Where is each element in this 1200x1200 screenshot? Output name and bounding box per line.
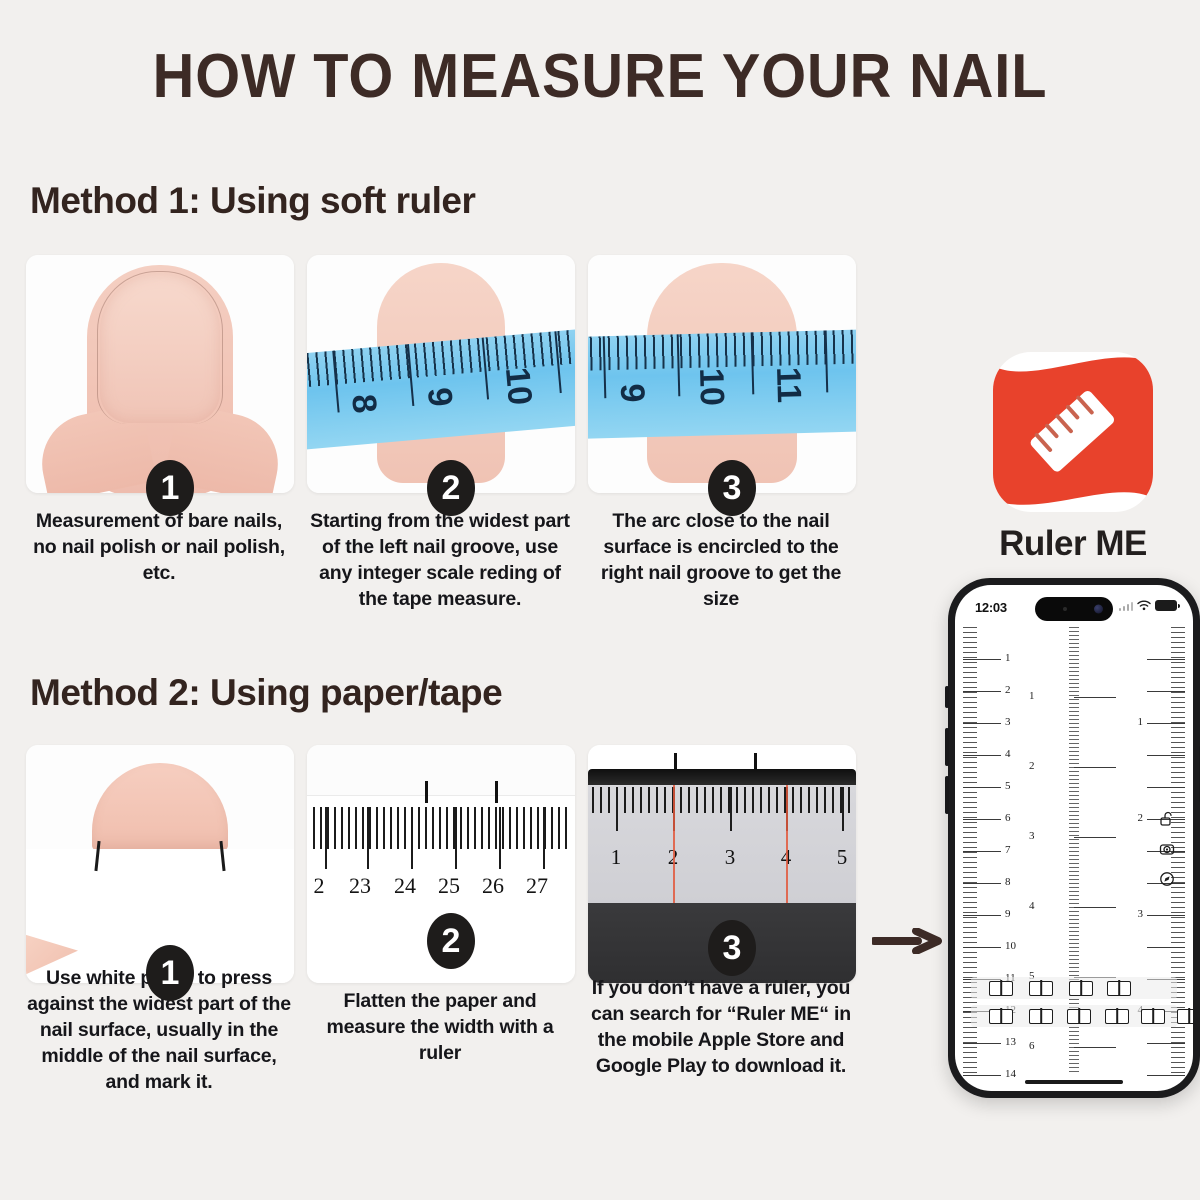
- ruler-tick-label: 3: [1005, 716, 1011, 728]
- cellular-signal-icon: [1119, 601, 1134, 611]
- status-bar-time: 12:03: [975, 600, 1007, 615]
- arrow-right-icon: [872, 928, 942, 954]
- ruler-tick-label: 1: [1005, 652, 1011, 664]
- step-badge-3: 3: [708, 920, 756, 976]
- method-1-step-2-caption: Starting from the widest part of the lef…: [307, 508, 573, 612]
- ruler-number: 24: [394, 873, 416, 899]
- phone-mockup: 12:03 1 2 3 4 5: [948, 578, 1200, 1098]
- ruler-number: 25: [438, 873, 460, 899]
- ruler-tick-label: 6: [1005, 812, 1011, 824]
- compass-icon[interactable]: [1159, 871, 1175, 887]
- ruler-tick-label: 2: [1005, 684, 1011, 696]
- ruler-number: 26: [482, 873, 504, 899]
- status-bar-indicators: [1119, 600, 1178, 611]
- method-2-step-2-caption: Flatten the paper and measure the width …: [307, 988, 573, 1066]
- method-1-step-1-photo: [26, 255, 294, 493]
- phone-silent-switch[interactable]: [945, 686, 949, 708]
- ruler-number: 1: [611, 845, 622, 870]
- pen-mark-right: [495, 781, 498, 803]
- ruler-widget-row[interactable]: [971, 1005, 1177, 1027]
- unlock-icon[interactable]: [1159, 811, 1175, 827]
- ruler-tick-label: 10: [1005, 940, 1016, 952]
- tape-measure-right-photo: 9 10 11: [588, 255, 856, 493]
- ruler-widget-chip[interactable]: [1177, 1009, 1193, 1024]
- method-1-step-2-photo: 8 9 10: [307, 255, 575, 493]
- nail-outline: [97, 271, 223, 424]
- ruler-tool-buttons: [1159, 811, 1175, 887]
- camera-icon[interactable]: [1159, 841, 1175, 857]
- paper-edge: [307, 745, 575, 796]
- ruler-widget-chip[interactable]: [1107, 981, 1131, 996]
- ruler-widget-chip[interactable]: [1069, 981, 1093, 996]
- ruler-widget-chip[interactable]: [1141, 1009, 1165, 1024]
- ruler-tick-label: 13: [1005, 1036, 1016, 1048]
- page-title: HOW TO MEASURE YOUR NAIL: [42, 42, 1158, 112]
- ruler-widget-chip[interactable]: [989, 1009, 1013, 1024]
- blue-tape-measure: 9 10 11: [588, 329, 856, 439]
- step-badge-3: 3: [708, 460, 756, 516]
- battery-icon: [1155, 600, 1177, 611]
- ruler-tick-label: 9: [1005, 908, 1011, 920]
- ruler-me-app-icon[interactable]: [993, 352, 1153, 512]
- method-1-step-3-photo: 9 10 11: [588, 255, 856, 493]
- tape-number: 9: [612, 383, 651, 403]
- ruler-widget-chip[interactable]: [1029, 1009, 1053, 1024]
- bare-nail-photo: [26, 255, 294, 493]
- ruler-tick-label: 4: [1029, 900, 1035, 912]
- home-indicator[interactable]: [1025, 1080, 1123, 1084]
- ruler-number: 3: [725, 845, 736, 870]
- tape-number: 8: [343, 393, 384, 415]
- phone-screen[interactable]: 12:03 1 2 3 4 5: [955, 585, 1193, 1091]
- app-brand-name: Ruler ME: [940, 524, 1200, 564]
- tape-number: 9: [419, 386, 460, 408]
- phone-bezel: [588, 769, 856, 785]
- ruler-tick-label: 2: [1138, 812, 1144, 824]
- ruler-widget-row[interactable]: [971, 977, 1177, 999]
- ruler-ticks: [313, 807, 569, 849]
- step-badge-2: 2: [427, 913, 475, 969]
- ruler-tick-label: 1: [1138, 716, 1144, 728]
- ruler-tick-label: 14: [1005, 1068, 1016, 1080]
- tape-ticks: [588, 329, 856, 371]
- ruler-widget-chip[interactable]: [1105, 1009, 1129, 1024]
- ruler-number: 5: [837, 845, 848, 870]
- tape-number: 10: [497, 366, 539, 407]
- step-badge-1: 1: [146, 460, 194, 516]
- dynamic-island: [1035, 597, 1113, 621]
- ruler-tick-label: 1: [1029, 690, 1035, 702]
- ruler-ticks: [592, 787, 852, 813]
- ruler-widget-chip[interactable]: [1029, 981, 1053, 996]
- ruler-number: 23: [349, 873, 371, 899]
- method-2-step-3-caption: If you don’t have a ruler, you can searc…: [588, 975, 854, 1079]
- ruler-widget-chip[interactable]: [989, 981, 1013, 996]
- method-1-step-3-caption: The arc close to the nail surface is enc…: [588, 508, 854, 612]
- ruler-tick-label: 2: [1029, 760, 1035, 772]
- ruler-tick-label: 4: [1005, 748, 1011, 760]
- tape-measure-left-photo: 8 9 10: [307, 255, 575, 493]
- front-camera-icon: [1094, 605, 1103, 614]
- ruler-number: 27: [526, 873, 548, 899]
- blue-tape-measure: 8 9 10: [307, 329, 575, 450]
- ruler-tick-label: 8: [1005, 876, 1011, 888]
- step-badge-1: 1: [146, 945, 194, 1001]
- ruler-number: 2: [314, 873, 325, 899]
- method-1-steps-row: 1 8 9 10 2: [0, 255, 880, 495]
- method-2-heading: Method 2: Using paper/tape: [30, 672, 502, 714]
- method-1-heading: Method 1: Using soft ruler: [30, 180, 475, 222]
- speaker-icon: [1063, 607, 1067, 611]
- ruler-tick-label: 3: [1138, 908, 1144, 920]
- ruler-tick-label: 3: [1029, 830, 1035, 842]
- tape-number: 11: [768, 366, 808, 403]
- method-2-steps-row: 1 2 23 24 25 26 27 2: [0, 745, 880, 985]
- step-badge-2: 2: [427, 460, 475, 516]
- phone-volume-up-button[interactable]: [945, 728, 949, 766]
- ruler-tick-label: 6: [1029, 1040, 1035, 1052]
- ruler-tick-label: 7: [1005, 844, 1011, 856]
- method-1-step-1-caption: Measurement of bare nails, no nail polis…: [26, 508, 292, 586]
- phone-screen-ruler: 1 2 3 4 5: [588, 785, 856, 903]
- wifi-icon: [1137, 600, 1151, 611]
- nail-tip-shape: [92, 763, 228, 851]
- phone-volume-down-button[interactable]: [945, 776, 949, 814]
- ruler-tick-label: 5: [1005, 780, 1011, 792]
- ruler-widget-chip[interactable]: [1067, 1009, 1091, 1024]
- tape-number: 10: [691, 368, 731, 407]
- pen-mark-left: [425, 781, 428, 803]
